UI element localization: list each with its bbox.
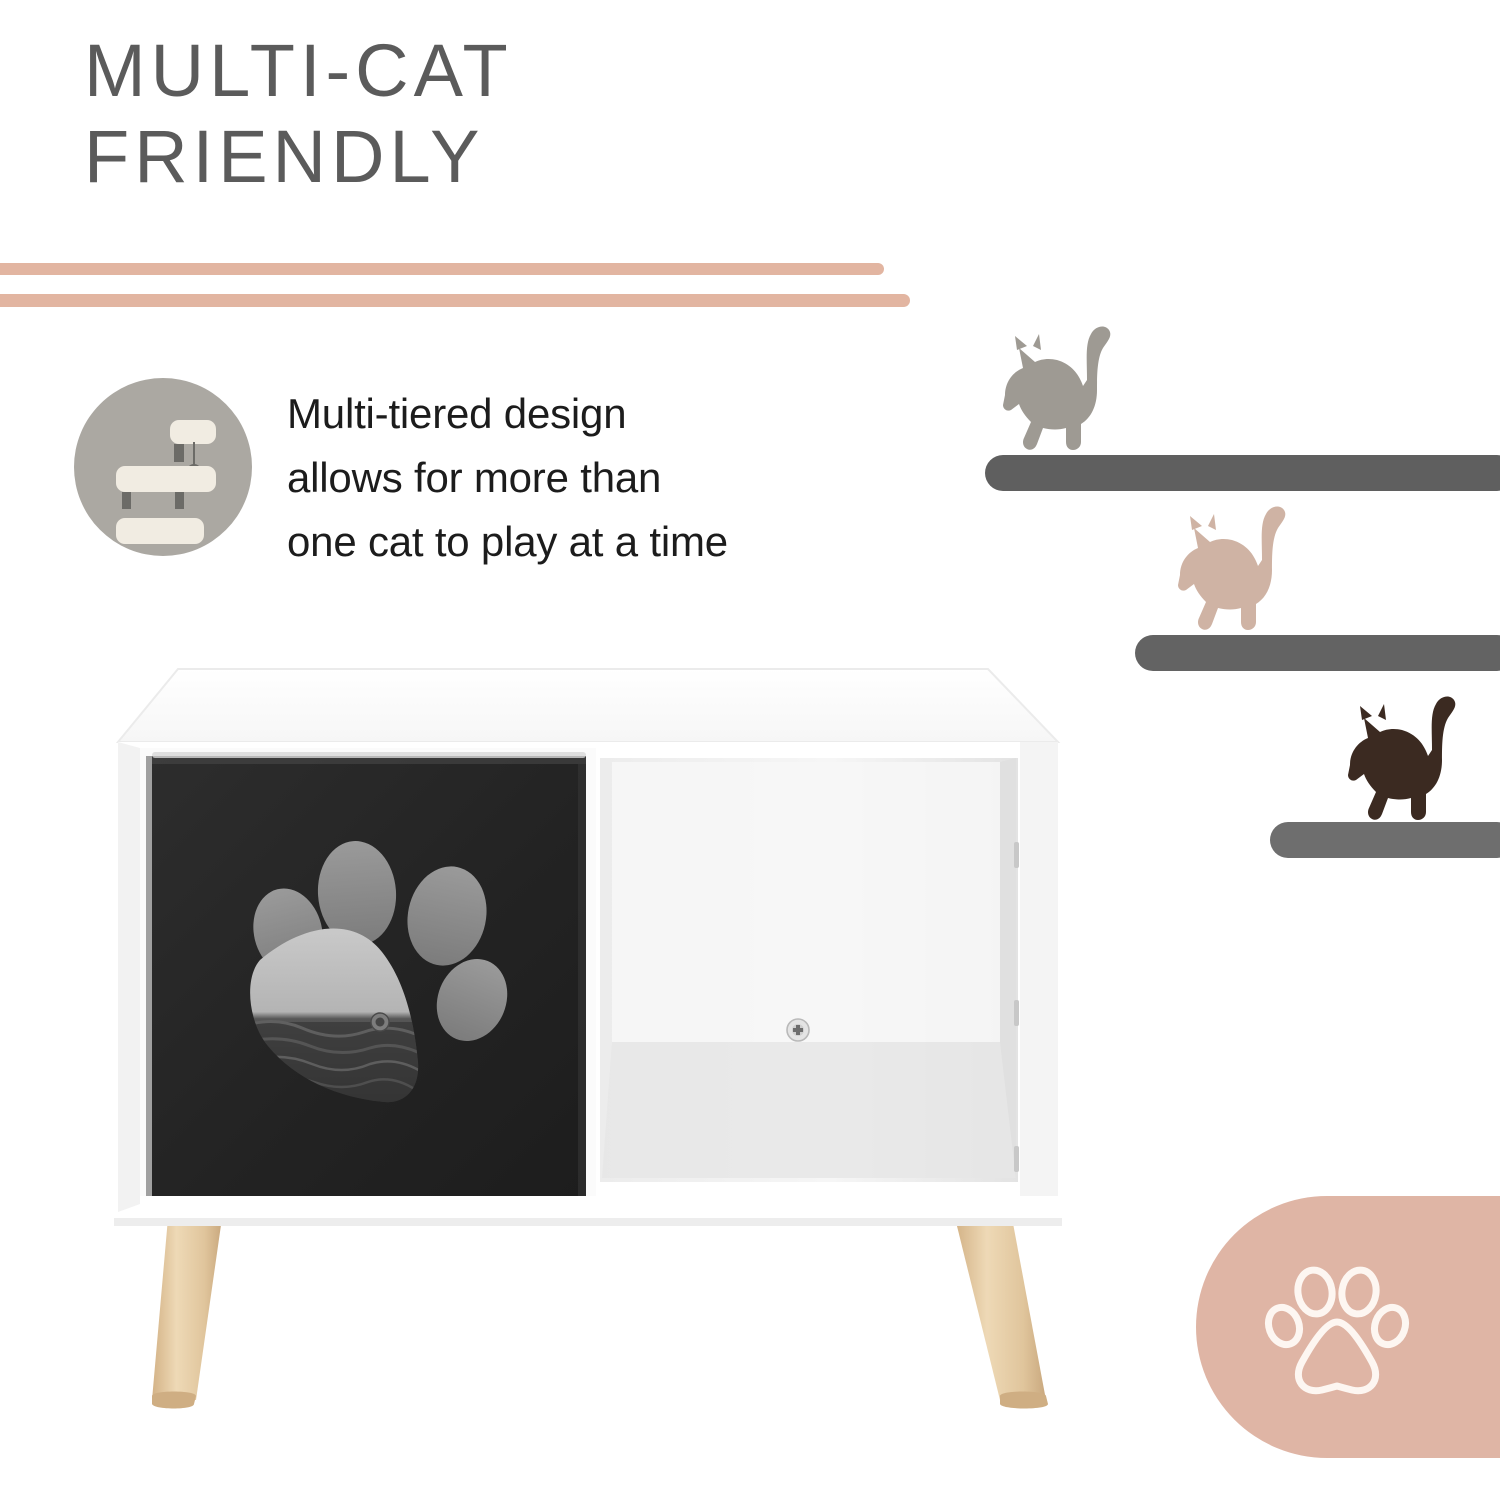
gray-cat-silhouette — [975, 320, 1145, 470]
feature-description: Multi-tiered design allows for more than… — [287, 382, 907, 574]
tier-connector-top — [174, 444, 184, 462]
door-screw — [371, 1013, 389, 1031]
cabinet-left-edge — [118, 742, 140, 1212]
screw-head — [787, 1019, 809, 1041]
hinge-pin-middle — [1014, 1000, 1019, 1026]
cabinet-top — [118, 669, 1058, 742]
cabinet-body — [118, 742, 1058, 1212]
open-compartment — [600, 758, 1018, 1182]
paw-print-icon — [1258, 1248, 1418, 1408]
tier-connector-right — [175, 492, 184, 509]
door-frame — [140, 748, 596, 1204]
page-title: MULTI-CAT FRIENDLY — [84, 28, 904, 200]
compartment-back-wall — [612, 762, 1000, 1042]
table-leg-left — [152, 1218, 222, 1409]
table-leg-right — [955, 1218, 1048, 1409]
tier-bar-bottom — [116, 518, 204, 544]
divider-line-top — [0, 263, 884, 275]
hinge-pin-top — [1014, 842, 1019, 868]
cabinet-plinth — [114, 1196, 1062, 1222]
tier-bar-top — [170, 420, 216, 444]
hinge-pin-bottom — [1014, 1146, 1019, 1172]
leg-plate-left — [166, 1206, 228, 1224]
leg-plate-right — [950, 1206, 1018, 1224]
paw-print-badge — [1196, 1196, 1500, 1458]
tier-bar-middle — [116, 466, 216, 492]
infographic-canvas: MULTI-CAT FRIENDLY Multi-tiered design a… — [0, 0, 1500, 1500]
black-cat-silhouette — [1320, 690, 1490, 840]
compartment-floor — [602, 1042, 1016, 1178]
compartment-inner-right — [1000, 758, 1016, 1178]
divider-line-bottom — [0, 294, 910, 307]
tan-cat-silhouette — [1150, 500, 1320, 650]
cabinet-door — [152, 756, 586, 1196]
cabinet-right-panel — [1020, 742, 1058, 1212]
multi-tier-shelf-icon — [74, 378, 252, 556]
door-top-gap — [152, 752, 586, 758]
door-hinge-strip — [146, 756, 152, 1196]
tier-connector-left — [122, 492, 131, 509]
pad-texture — [240, 1021, 440, 1122]
paw-print-cutout — [240, 838, 519, 1122]
